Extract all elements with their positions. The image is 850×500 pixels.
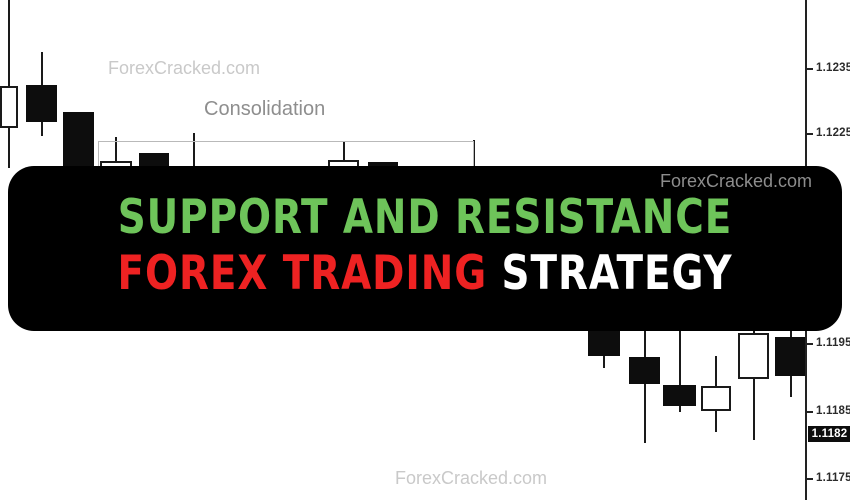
title-line-2: FOREX TRADING STRATEGY — [41, 246, 808, 302]
price-axis-label: 1.1225 — [816, 127, 850, 139]
candle-body — [26, 85, 57, 122]
forex-chart-screenshot: Consolidation ForexCracked.com ForexCrac… — [0, 0, 850, 500]
price-axis-label: 1.1185 — [816, 405, 850, 417]
axis-tick — [807, 411, 813, 413]
candle-wick — [644, 325, 646, 443]
candle-body — [63, 112, 94, 172]
consolidation-label: Consolidation — [204, 98, 325, 121]
title-support-and-resistance: SUPPORT AND RESISTANCE — [118, 190, 733, 245]
price-axis-label: 1.1175 — [816, 472, 850, 484]
title-banner: ForexCracked.com SUPPORT AND RESISTANCE … — [8, 166, 842, 331]
watermark-bottom-center: ForexCracked.com — [395, 468, 547, 489]
title-forex-trading: FOREX TRADING — [118, 246, 488, 301]
current-price-badge: 1.1182 — [808, 426, 850, 442]
axis-tick — [807, 68, 813, 70]
title-text-block: SUPPORT AND RESISTANCE FOREX TRADING STR… — [8, 190, 842, 302]
price-axis-label: 1.1235 — [816, 62, 850, 74]
title-strategy: STRATEGY — [502, 246, 733, 301]
watermark-top-left: ForexCracked.com — [108, 58, 260, 79]
candle-body — [663, 385, 696, 406]
axis-tick — [807, 133, 813, 135]
candle-body — [701, 386, 731, 411]
candle-body — [629, 357, 660, 384]
axis-tick — [807, 343, 813, 345]
candle-body — [775, 337, 806, 376]
watermark-banner-right: ForexCracked.com — [660, 171, 812, 192]
candle-body — [738, 333, 769, 379]
candle-wick — [8, 0, 10, 168]
title-line-1: SUPPORT AND RESISTANCE — [41, 190, 808, 246]
candle-body — [0, 86, 18, 128]
axis-tick — [807, 478, 813, 480]
price-axis-label: 1.1195 — [816, 337, 850, 349]
